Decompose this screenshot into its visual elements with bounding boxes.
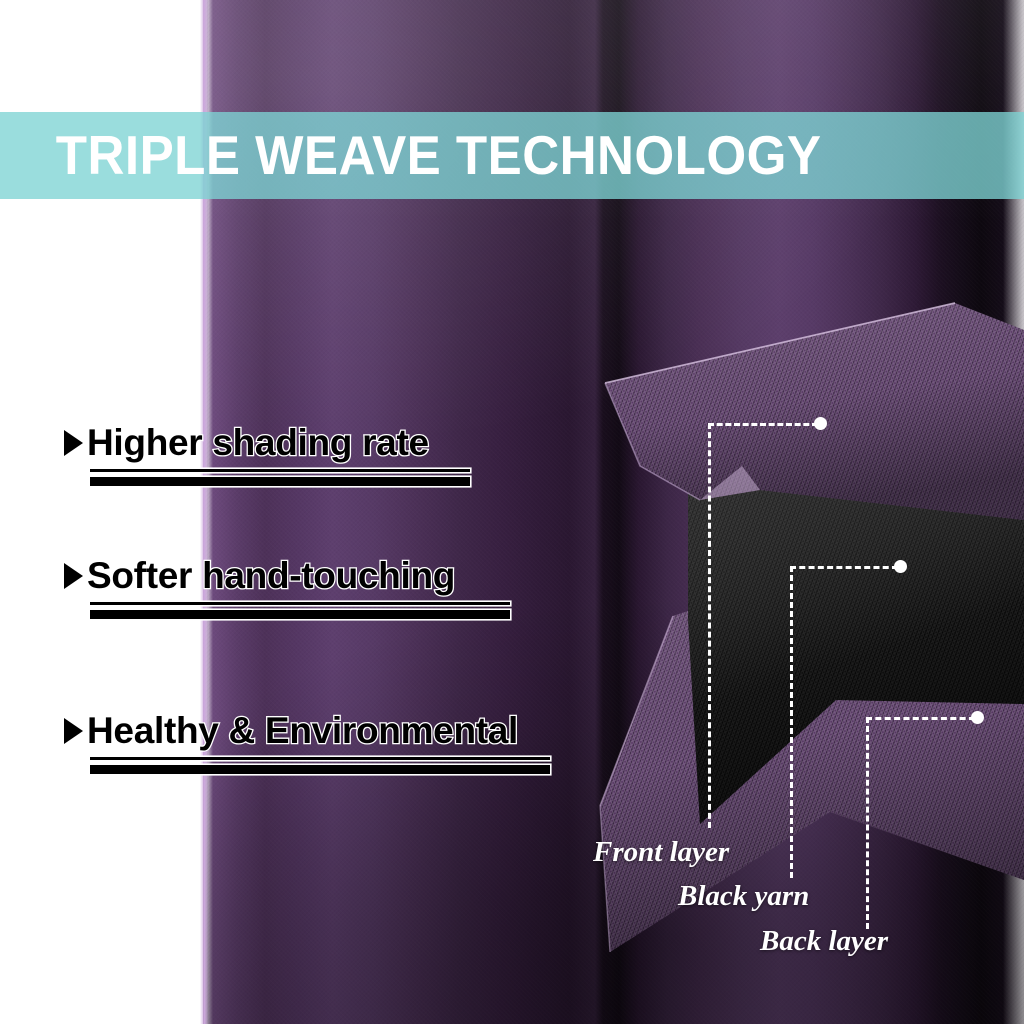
triangle-right-icon — [64, 563, 83, 589]
underline-thin — [90, 757, 550, 760]
label-black-yarn: Black yarn — [678, 880, 809, 913]
label-front-layer: Front layer — [593, 836, 729, 869]
underline-thick — [90, 765, 550, 774]
triangle-right-icon — [64, 430, 83, 456]
banner-title: TRIPLE WEAVE TECHNOLOGY — [0, 128, 821, 183]
product-infographic: Front layer Black yarn Back layer TRIPLE… — [0, 0, 1024, 1024]
underline-thick — [90, 610, 510, 619]
feature-underline — [90, 757, 550, 774]
triangle-right-icon — [64, 718, 83, 744]
feature-label: Healthy & Environmental — [87, 712, 518, 751]
feature-underline — [90, 469, 470, 486]
leader-v-black-yarn — [790, 566, 793, 878]
leader-h-black-yarn — [790, 566, 898, 569]
feature-item-higher-shading-rate: Higher shading rate — [64, 424, 470, 486]
feature-underline — [90, 602, 510, 619]
leader-v-front — [708, 423, 711, 828]
feature-item-healthy-environmental: Healthy & Environmental — [64, 712, 550, 774]
leader-h-front — [708, 423, 818, 426]
label-back-layer: Back layer — [760, 925, 888, 958]
feature-label: Higher shading rate — [87, 424, 429, 463]
feature-label: Softer hand-touching — [87, 557, 455, 596]
banner: TRIPLE WEAVE TECHNOLOGY — [0, 112, 1024, 199]
underline-thin — [90, 469, 470, 472]
underline-thick — [90, 477, 470, 486]
feature-item-softer-hand-touching: Softer hand-touching — [64, 557, 510, 619]
underline-thin — [90, 602, 510, 605]
leader-h-back — [866, 717, 975, 720]
leader-v-back — [866, 717, 869, 929]
